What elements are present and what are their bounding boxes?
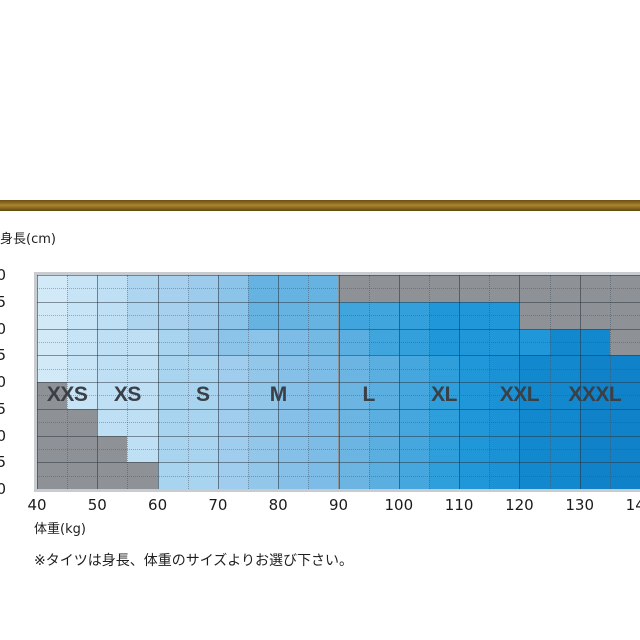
chart-cell [248, 329, 278, 356]
y-axis-tick: 160 [0, 320, 6, 338]
chart-cell [97, 436, 127, 490]
x-axis-tick: 120 [505, 496, 534, 514]
x-axis-tick: 70 [208, 496, 227, 514]
chart-cell [580, 275, 610, 329]
chart-cell [248, 302, 278, 329]
chart-cell [218, 355, 248, 489]
size-chart: 身長(cm) XXSXSSMLXLXXLXXXL 体重(kg) ※タイツは身長、… [0, 228, 640, 568]
chart-cell [610, 355, 640, 489]
chart-cell [339, 275, 369, 302]
chart-cell [519, 275, 549, 329]
chart-cell [399, 275, 429, 302]
size-label-xxs: XXS [47, 383, 88, 407]
y-axis-tick: 155 [0, 293, 6, 311]
chart-cell [278, 275, 308, 329]
chart-cell [339, 302, 369, 329]
y-axis-tick: 150 [0, 266, 6, 284]
page-header: SHORT／TIGHTS [0, 0, 640, 212]
chart-cell [188, 275, 218, 355]
x-axis-tick: 100 [384, 496, 413, 514]
chart-cell [519, 329, 549, 356]
chart-cell [489, 302, 519, 356]
chart-cell [127, 275, 157, 329]
x-axis-tick: 40 [27, 496, 46, 514]
chart-cell [459, 302, 489, 356]
chart-cell [188, 355, 218, 489]
y-axis-tick: 170 [0, 373, 6, 391]
chart-cell [339, 355, 369, 489]
chart-cell [67, 409, 97, 489]
chart-cell [278, 355, 308, 489]
x-axis-title: 体重(kg) [34, 518, 86, 537]
chart-plot-frame: XXSXSSMLXLXXLXXXL [34, 272, 640, 492]
y-axis-tick: 180 [0, 427, 6, 445]
chart-cell [580, 355, 610, 489]
chart-cell [158, 329, 188, 490]
chart-cell [127, 462, 157, 489]
chart-cell [248, 275, 278, 302]
y-axis-tick: 190 [0, 480, 6, 498]
x-axis-tick: 80 [269, 496, 288, 514]
y-axis-tick: 175 [0, 400, 6, 418]
x-axis-tick: 60 [148, 496, 167, 514]
chart-cell [610, 275, 640, 355]
size-label-xl: XL [431, 383, 457, 407]
chart-cell [308, 329, 338, 356]
chart-cell [308, 355, 338, 489]
chart-cell [369, 275, 399, 302]
chart-cell [158, 275, 188, 329]
chart-cell [399, 302, 429, 356]
x-axis-tick: 140 [626, 496, 640, 514]
chart-cell [580, 329, 610, 356]
chart-cell [218, 275, 248, 355]
chart-cell [37, 275, 67, 382]
y-axis-title: 身長(cm) [0, 228, 56, 247]
chart-cell [459, 275, 489, 302]
chart-cell [399, 355, 429, 489]
chart-cell [369, 355, 399, 489]
chart-cell [550, 355, 580, 489]
size-label-xs: XS [114, 383, 141, 407]
chart-cell [429, 275, 459, 302]
chart-cell [550, 275, 580, 329]
y-axis-tick: 165 [0, 346, 6, 364]
y-axis-tick: 185 [0, 453, 6, 471]
chart-note: ※タイツは身長、体重のサイズよりお選び下さい。 [34, 550, 353, 570]
chart-cell [308, 275, 338, 329]
chart-cell [97, 275, 127, 436]
page-title: SHORT／TIGHTS [0, 122, 640, 174]
chart-plot-area: XXSXSSMLXLXXLXXXL [37, 275, 640, 489]
chart-cell [278, 329, 308, 356]
chart-cell [429, 302, 459, 356]
chart-cell [369, 302, 399, 356]
chart-cell [459, 355, 489, 489]
size-label-xxl: XXL [500, 383, 539, 407]
x-axis-tick: 130 [565, 496, 594, 514]
x-axis-tick: 50 [88, 496, 107, 514]
x-axis-tick: 90 [329, 496, 348, 514]
chart-cell [489, 275, 519, 302]
chart-cell [519, 355, 549, 489]
size-label-l: L [362, 383, 374, 407]
size-label-xxxl: XXXL [568, 383, 621, 407]
size-label-s: S [196, 383, 210, 407]
size-label-m: M [270, 383, 287, 407]
chart-cell [339, 329, 369, 356]
chart-cell [429, 355, 459, 489]
gold-divider-bar [0, 200, 640, 211]
chart-cell [489, 355, 519, 489]
chart-cell [248, 355, 278, 489]
x-axis-tick: 110 [445, 496, 474, 514]
chart-cell [550, 329, 580, 356]
